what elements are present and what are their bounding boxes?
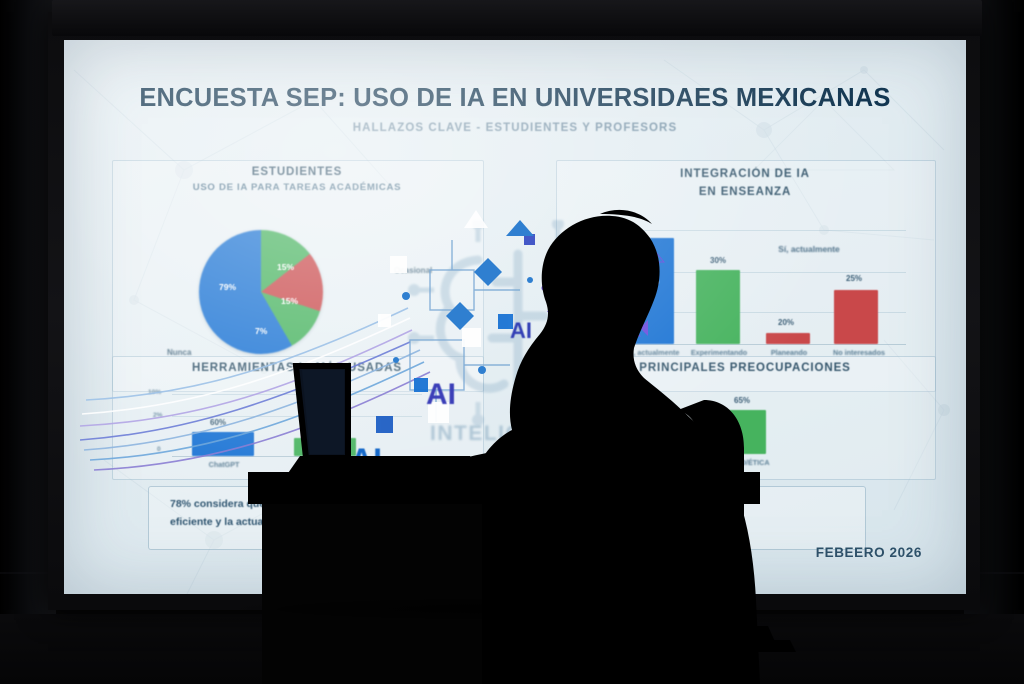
teaching-bar-chart: 40% 40% Sí, actualmente 30% Experimentan… <box>584 216 914 366</box>
teaching-bar-experimentando <box>696 270 740 344</box>
tools-ytick-1: 2% <box>153 412 163 419</box>
pie-label-ocasional: 15% <box>277 262 294 272</box>
teaching-bar-si-actualmente <box>630 238 674 344</box>
concerns-bar-label-plagio: PLAGIO/ÉTICA <box>704 458 784 467</box>
teaching-panel-title-line2: EN ENSEANZA <box>556 186 934 198</box>
callout-line1: 78% considera que la capacitación es nec… <box>170 496 850 512</box>
concerns-panel-title: PRINCIPALES PREOCUPACIONES <box>556 362 934 374</box>
projector-screen-housing <box>52 0 982 36</box>
slide-footer-date: FEBEERO 2026 <box>816 545 922 560</box>
pie-label-nunca: 79% <box>219 282 236 292</box>
tools-panel: HERRAMIENTAS IA MÁS USADAS <box>112 362 482 374</box>
tools-bar-chart: 10% 2% 0 60% ChatGPT 25% Google Bard <box>144 388 444 474</box>
tools-ytick-0: 10% <box>148 389 161 396</box>
concerns-bar-value-plagio: 65% <box>734 396 750 405</box>
projector-screen-surface: ENCUESTA SEP: USO DE IA EN UNIVERSIDAES … <box>64 40 966 594</box>
concerns-panel: PRINCIPALES PREOCUPACIONES <box>556 362 934 374</box>
concerns-bar-chart: 65% PLAGIO/ÉTICA <box>664 388 824 472</box>
students-panel-subtitle: USO DE IA PARA TAREAS ACADÉMICAS <box>112 182 482 193</box>
students-panel: ESTUDIENTES USO DE IA PARA TAREAS ACADÉM… <box>112 166 482 193</box>
tools-panel-title: HERRAMIENTAS IA MÁS USADAS <box>112 362 482 374</box>
pie-label-siempre: 7% <box>255 326 267 336</box>
tools-bar-label-googlebard: Google Bard <box>286 460 366 469</box>
teaching-bar-value-si-actualmente: 40% <box>642 276 659 286</box>
pie-chart-usage: 79% 15% 15% 7% Ocasional Nunca <box>199 230 323 354</box>
teaching-panel: INTEGRACIÓN DE IA EN ENSEANZA <box>556 168 934 198</box>
slide-title: ENCUESTA SEP: USO DE IA EN UNIVERSIDAES … <box>64 84 966 113</box>
slide-subtitle: HALLAZOS CLAVE - ESTUDIENTES Y PROFESORS <box>64 122 966 134</box>
teaching-bar-planeando <box>766 333 810 344</box>
tools-bar-chatgpt <box>192 432 254 456</box>
slide-content: ENCUESTA SEP: USO DE IA EN UNIVERSIDAES … <box>64 40 966 594</box>
tools-bar-googlebard <box>294 438 356 456</box>
room-floor <box>0 614 1024 684</box>
teaching-ytick-40: 40% <box>584 224 597 231</box>
callout-line2: eficiente y la actualización docente urg… <box>170 514 850 530</box>
teaching-bar-value-planeando: 20% <box>778 318 794 327</box>
tools-bar-value-googlebard: 25% <box>314 423 330 432</box>
students-panel-title: ESTUDIENTES <box>112 166 482 178</box>
tools-bar-label-chatgpt: ChatGPT <box>184 460 264 469</box>
tools-bar-value-chatgpt: 60% <box>210 418 226 427</box>
teaching-panel-title-line1: INTEGRACIÓN DE IA <box>556 168 934 180</box>
desk-shadow <box>220 596 780 622</box>
teaching-bar-value-experimentando: 30% <box>710 256 726 265</box>
concerns-bar-plagio <box>720 410 766 454</box>
pie-annotation-ocasional: Ocasional <box>394 266 432 275</box>
teaching-bar-no-interesados <box>834 290 878 344</box>
pie-label-frecuente: 15% <box>281 296 298 306</box>
teaching-bar-value-no-interesados: 25% <box>846 274 862 283</box>
tools-ytick-2: 0 <box>157 446 161 453</box>
presentation-scene: ENCUESTA SEP: USO DE IA EN UNIVERSIDAES … <box>0 0 1024 684</box>
teaching-annotation: Sí, actualmente <box>744 244 874 254</box>
